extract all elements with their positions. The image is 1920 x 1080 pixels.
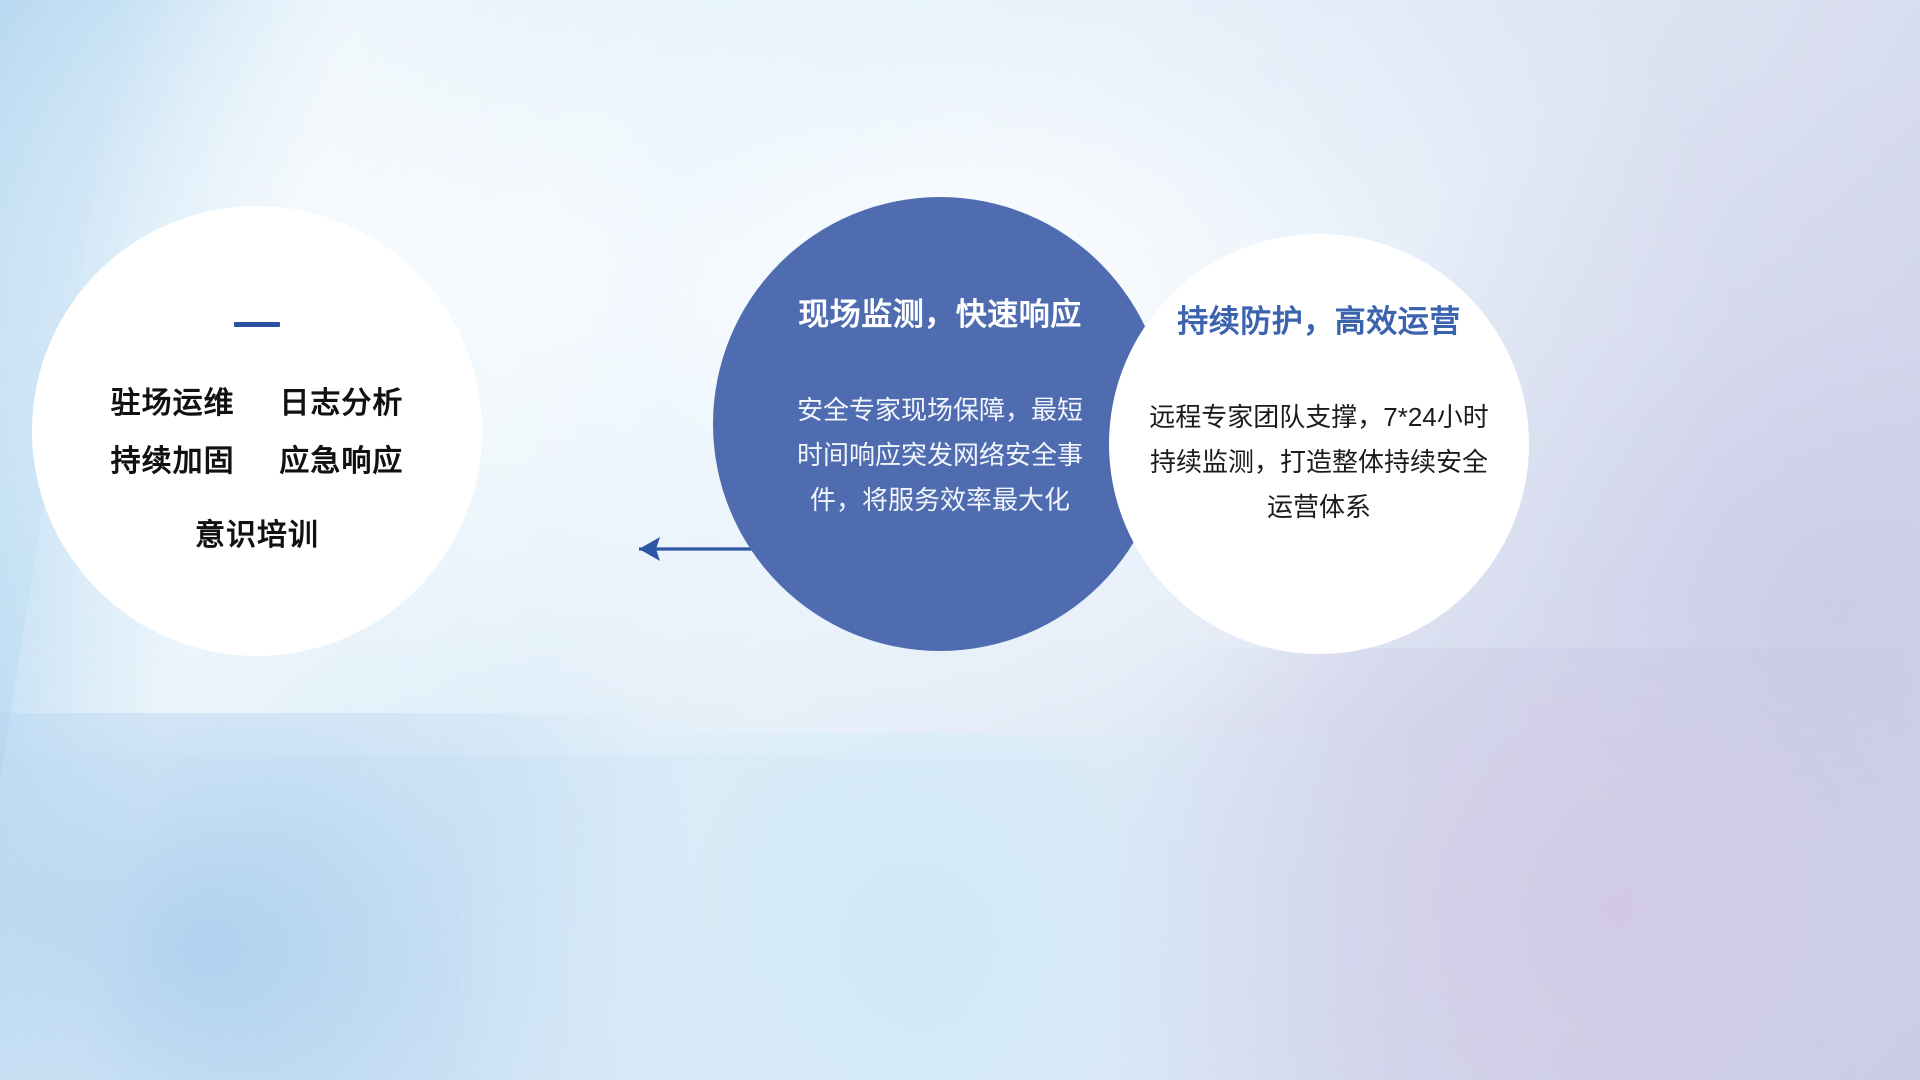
background-bottom-right-glow <box>1114 648 1920 1080</box>
capability-tag-list: 驻场运维 日志分析 持续加固 应急响应 意识培训 <box>32 375 482 565</box>
slide-canvas: 驻场运维 日志分析 持续加固 应急响应 意识培训 现场监测，快速响应 安全专家现… <box>0 0 1920 1080</box>
capability-row-2: 持续加固 应急响应 <box>32 433 482 491</box>
left-capability-circle[interactable]: 驻场运维 日志分析 持续加固 应急响应 意识培训 <box>32 206 482 656</box>
mid-circle-content: 现场监测，快速响应 安全专家现场保障，最短时间响应突发网络安全事件，将服务效率最… <box>713 197 1167 651</box>
capability-tag-continuous-hardening: 持续加固 <box>111 445 235 478</box>
capability-tag-log-analysis: 日志分析 <box>279 387 403 420</box>
left-circle-content: 驻场运维 日志分析 持续加固 应急响应 意识培训 <box>32 206 482 656</box>
mid-circle-description: 安全专家现场保障，最短时间响应突发网络安全事件，将服务效率最大化 <box>795 388 1085 523</box>
accent-divider-dash <box>234 322 280 327</box>
right-circle-title: 持续防护，高效运营 <box>1177 296 1461 341</box>
right-circle-content: 持续防护，高效运营 远程专家团队支撑，7*24小时持续监测，打造整体持续安全运营… <box>1109 234 1529 654</box>
capability-tag-awareness-training: 意识培训 <box>195 519 319 552</box>
right-continuous-protection-circle[interactable]: 持续防护，高效运营 远程专家团队支撑，7*24小时持续监测，打造整体持续安全运营… <box>1109 234 1529 654</box>
mid-circle-title: 现场监测，快速响应 <box>798 289 1082 334</box>
capability-tag-emergency-response: 应急响应 <box>279 445 403 478</box>
capability-row-3: 意识培训 <box>32 507 482 565</box>
capability-tag-onsite-ops: 驻场运维 <box>111 387 235 420</box>
mid-onsite-monitoring-circle[interactable]: 现场监测，快速响应 安全专家现场保障，最短时间响应突发网络安全事件，将服务效率最… <box>713 197 1167 651</box>
right-circle-description: 远程专家团队支撑，7*24小时持续监测，打造整体持续安全运营体系 <box>1141 395 1497 530</box>
capability-row-1: 驻场运维 日志分析 <box>32 375 482 433</box>
